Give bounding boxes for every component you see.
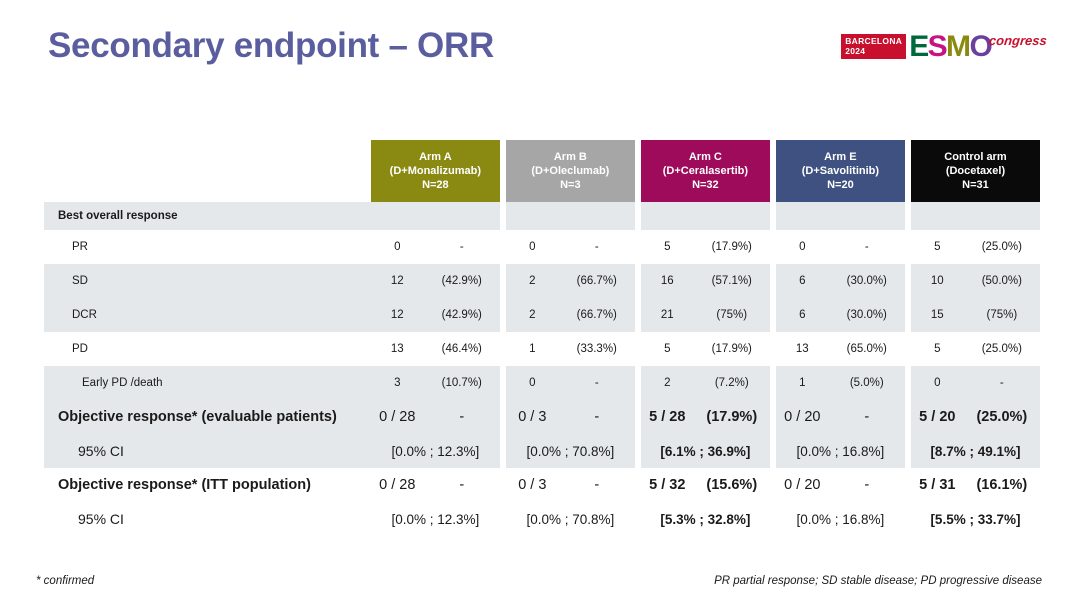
cell-pr-arm-a-n: 0 xyxy=(371,230,424,264)
cell-ci-itt-arm-e: [0.0% ; 16.8%] xyxy=(776,502,905,536)
cell-early-pd-arm-e-n: 1 xyxy=(776,366,829,400)
arm-b-n: N=3 xyxy=(508,178,633,192)
cell-early-pd-arm-e-pct: (5.0%) xyxy=(829,366,905,400)
arm-a-drug: (D+Monalizumab) xyxy=(373,164,498,178)
cell-ci-itt-arm-a: [0.0% ; 12.3%] xyxy=(371,502,500,536)
cell-early-pd-arm-c-n: 2 xyxy=(641,366,694,400)
row-label-ci-itt: 95% CI xyxy=(44,502,371,536)
cell-or-itt-control-pct: (16.1%) xyxy=(964,468,1040,502)
logo-year: 2024 xyxy=(845,47,902,57)
cell-empty xyxy=(424,202,500,230)
logo-letter-s: S xyxy=(928,34,946,60)
cell-empty xyxy=(964,202,1040,230)
cell-or-eval-arm-e-n: 0 / 20 xyxy=(776,400,829,434)
arm-c-n: N=32 xyxy=(643,178,768,192)
cell-pd-arm-b-pct: (33.3%) xyxy=(559,332,635,366)
cell-empty xyxy=(559,202,635,230)
cell-or-itt-arm-b-n: 0 / 3 xyxy=(506,468,559,502)
cell-pd-arm-a-n: 13 xyxy=(371,332,424,366)
cell-early-pd-arm-a-pct: (10.7%) xyxy=(424,366,500,400)
arm-c-name: Arm C xyxy=(643,150,768,164)
cell-ci-eval-arm-e: [0.0% ; 16.8%] xyxy=(776,434,905,468)
row-label-best-overall-response: Best overall response xyxy=(44,202,371,230)
logo-letter-m: M xyxy=(946,34,969,60)
cell-dcr-arm-b-n: 2 xyxy=(506,298,559,332)
cell-empty xyxy=(911,202,964,230)
row-label-dcr: DCR xyxy=(44,298,371,332)
cell-early-pd-control-pct: - xyxy=(964,366,1040,400)
table-row: SD 12 (42.9%) 2 (66.7%) 16 (57.1%) 6 (30… xyxy=(44,264,1040,298)
cell-sd-arm-b-pct: (66.7%) xyxy=(559,264,635,298)
cell-empty xyxy=(776,202,829,230)
cell-empty xyxy=(641,202,694,230)
cell-dcr-arm-e-pct: (30.0%) xyxy=(829,298,905,332)
table-row-ci-itt: 95% CI [0.0% ; 12.3%] [0.0% ; 70.8%] [5.… xyxy=(44,502,1040,536)
cell-or-itt-arm-e-pct: - xyxy=(829,468,905,502)
table-row: PR 0 - 0 - 5 (17.9%) 0 - 5 (25.0%) xyxy=(44,230,1040,264)
table-row: PD 13 (46.4%) 1 (33.3%) 5 (17.9%) 13 (65… xyxy=(44,332,1040,366)
row-label-ci-evaluable: 95% CI xyxy=(44,434,371,468)
cell-or-itt-arm-e-n: 0 / 20 xyxy=(776,468,829,502)
cell-pr-arm-e-n: 0 xyxy=(776,230,829,264)
cell-or-eval-arm-a-pct: - xyxy=(424,400,500,434)
cell-or-eval-arm-b-n: 0 / 3 xyxy=(506,400,559,434)
cell-dcr-arm-b-pct: (66.7%) xyxy=(559,298,635,332)
cell-pd-control-n: 5 xyxy=(911,332,964,366)
arm-a-n: N=28 xyxy=(373,178,498,192)
cell-early-pd-arm-c-pct: (7.2%) xyxy=(694,366,770,400)
footnote-left: * confirmed xyxy=(36,575,94,587)
table-row-ci-evaluable: 95% CI [0.0% ; 12.3%] [0.0% ; 70.8%] [6.… xyxy=(44,434,1040,468)
cell-or-eval-arm-a-n: 0 / 28 xyxy=(371,400,424,434)
cell-pr-arm-b-pct: - xyxy=(559,230,635,264)
table-row: Early PD /death 3 (10.7%) 0 - 2 (7.2%) 1… xyxy=(44,366,1040,400)
table-row: DCR 12 (42.9%) 2 (66.7%) 21 (75%) 6 (30.… xyxy=(44,298,1040,332)
cell-pd-control-pct: (25.0%) xyxy=(964,332,1040,366)
cell-sd-arm-a-n: 12 xyxy=(371,264,424,298)
table-row-objective-response-evaluable: Objective response* (evaluable patients)… xyxy=(44,400,1040,434)
cell-pd-arm-b-n: 1 xyxy=(506,332,559,366)
cell-sd-arm-c-pct: (57.1%) xyxy=(694,264,770,298)
cell-sd-control-n: 10 xyxy=(911,264,964,298)
arm-e-name: Arm E xyxy=(778,150,903,164)
logo-esmo-wordmark: E S M O xyxy=(909,34,991,60)
cell-sd-arm-a-pct: (42.9%) xyxy=(424,264,500,298)
cell-or-eval-control-n: 5 / 20 xyxy=(911,400,964,434)
table-row-objective-response-itt: Objective response* (ITT population) 0 /… xyxy=(44,468,1040,502)
cell-pr-arm-b-n: 0 xyxy=(506,230,559,264)
cell-or-itt-arm-b-pct: - xyxy=(559,468,635,502)
column-header-arm-a: Arm A (D+Monalizumab) N=28 xyxy=(371,140,500,202)
cell-pd-arm-a-pct: (46.4%) xyxy=(424,332,500,366)
column-header-arm-b: Arm B (D+Oleclumab) N=3 xyxy=(506,140,635,202)
cell-early-pd-arm-b-n: 0 xyxy=(506,366,559,400)
row-label-sd: SD xyxy=(44,264,371,298)
cell-dcr-arm-a-pct: (42.9%) xyxy=(424,298,500,332)
logo-letter-e: E xyxy=(909,34,927,60)
arm-e-drug: (D+Savolitinib) xyxy=(778,164,903,178)
footnote-right: PR partial response; SD stable disease; … xyxy=(714,575,1042,587)
cell-sd-control-pct: (50.0%) xyxy=(964,264,1040,298)
cell-sd-arm-e-pct: (30.0%) xyxy=(829,264,905,298)
column-header-arm-e: Arm E (D+Savolitinib) N=20 xyxy=(776,140,905,202)
control-arm-drug: (Docetaxel) xyxy=(913,164,1038,178)
cell-sd-arm-b-n: 2 xyxy=(506,264,559,298)
cell-ci-eval-control: [8.7% ; 49.1%] xyxy=(911,434,1040,468)
cell-pr-control-pct: (25.0%) xyxy=(964,230,1040,264)
cell-dcr-control-pct: (75%) xyxy=(964,298,1040,332)
cell-or-itt-control-n: 5 / 31 xyxy=(911,468,964,502)
cell-empty xyxy=(694,202,770,230)
arm-a-name: Arm A xyxy=(373,150,498,164)
row-label-objective-response-itt: Objective response* (ITT population) xyxy=(44,468,371,502)
cell-pr-arm-c-pct: (17.9%) xyxy=(694,230,770,264)
header-corner-blank xyxy=(44,140,371,202)
arm-b-drug: (D+Oleclumab) xyxy=(508,164,633,178)
cell-early-pd-arm-a-n: 3 xyxy=(371,366,424,400)
logo-city-badge: BARCELONA 2024 xyxy=(841,34,906,59)
cell-dcr-arm-c-n: 21 xyxy=(641,298,694,332)
cell-or-eval-arm-b-pct: - xyxy=(559,400,635,434)
cell-or-eval-arm-c-n: 5 / 28 xyxy=(641,400,694,434)
arm-b-name: Arm B xyxy=(508,150,633,164)
orr-table-container: Arm A (D+Monalizumab) N=28 Arm B (D+Olec… xyxy=(44,140,1040,536)
cell-ci-eval-arm-c: [6.1% ; 36.9%] xyxy=(641,434,770,468)
orr-table: Arm A (D+Monalizumab) N=28 Arm B (D+Olec… xyxy=(44,140,1040,536)
cell-or-itt-arm-a-pct: - xyxy=(424,468,500,502)
cell-or-itt-arm-c-n: 5 / 32 xyxy=(641,468,694,502)
cell-or-eval-control-pct: (25.0%) xyxy=(964,400,1040,434)
table-header-row: Arm A (D+Monalizumab) N=28 Arm B (D+Olec… xyxy=(44,140,1040,202)
cell-dcr-arm-a-n: 12 xyxy=(371,298,424,332)
cell-sd-arm-e-n: 6 xyxy=(776,264,829,298)
cell-sd-arm-c-n: 16 xyxy=(641,264,694,298)
cell-pr-arm-a-pct: - xyxy=(424,230,500,264)
logo-congress-text: congress xyxy=(989,34,1048,47)
cell-ci-itt-arm-c: [5.3% ; 32.8%] xyxy=(641,502,770,536)
cell-empty xyxy=(506,202,559,230)
table-row-section-header: Best overall response xyxy=(44,202,1040,230)
control-arm-name: Control arm xyxy=(913,150,1038,164)
cell-ci-eval-arm-a: [0.0% ; 12.3%] xyxy=(371,434,500,468)
cell-empty xyxy=(371,202,424,230)
cell-or-itt-arm-a-n: 0 / 28 xyxy=(371,468,424,502)
cell-pd-arm-c-n: 5 xyxy=(641,332,694,366)
cell-pr-arm-c-n: 5 xyxy=(641,230,694,264)
row-label-early-pd-death: Early PD /death xyxy=(44,366,371,400)
column-header-control-arm: Control arm (Docetaxel) N=31 xyxy=(911,140,1040,202)
cell-early-pd-control-n: 0 xyxy=(911,366,964,400)
control-arm-n: N=31 xyxy=(913,178,1038,192)
row-label-pd: PD xyxy=(44,332,371,366)
page-title: Secondary endpoint – ORR xyxy=(48,26,494,66)
cell-ci-itt-control: [5.5% ; 33.7%] xyxy=(911,502,1040,536)
cell-or-eval-arm-e-pct: - xyxy=(829,400,905,434)
cell-dcr-arm-c-pct: (75%) xyxy=(694,298,770,332)
arm-e-n: N=20 xyxy=(778,178,903,192)
cell-pd-arm-e-pct: (65.0%) xyxy=(829,332,905,366)
cell-pd-arm-e-n: 13 xyxy=(776,332,829,366)
cell-dcr-arm-e-n: 6 xyxy=(776,298,829,332)
cell-ci-itt-arm-b: [0.0% ; 70.8%] xyxy=(506,502,635,536)
cell-pr-control-n: 5 xyxy=(911,230,964,264)
row-label-objective-response-evaluable: Objective response* (evaluable patients) xyxy=(44,400,371,434)
cell-ci-eval-arm-b: [0.0% ; 70.8%] xyxy=(506,434,635,468)
cell-empty xyxy=(829,202,905,230)
cell-pr-arm-e-pct: - xyxy=(829,230,905,264)
cell-pd-arm-c-pct: (17.9%) xyxy=(694,332,770,366)
arm-c-drug: (D+Ceralasertib) xyxy=(643,164,768,178)
cell-or-eval-arm-c-pct: (17.9%) xyxy=(694,400,770,434)
column-header-arm-c: Arm C (D+Ceralasertib) N=32 xyxy=(641,140,770,202)
cell-or-itt-arm-c-pct: (15.6%) xyxy=(694,468,770,502)
esmo-congress-logo: BARCELONA 2024 E S M O congress xyxy=(841,26,1047,60)
row-label-pr: PR xyxy=(44,230,371,264)
cell-early-pd-arm-b-pct: - xyxy=(559,366,635,400)
cell-dcr-control-n: 15 xyxy=(911,298,964,332)
